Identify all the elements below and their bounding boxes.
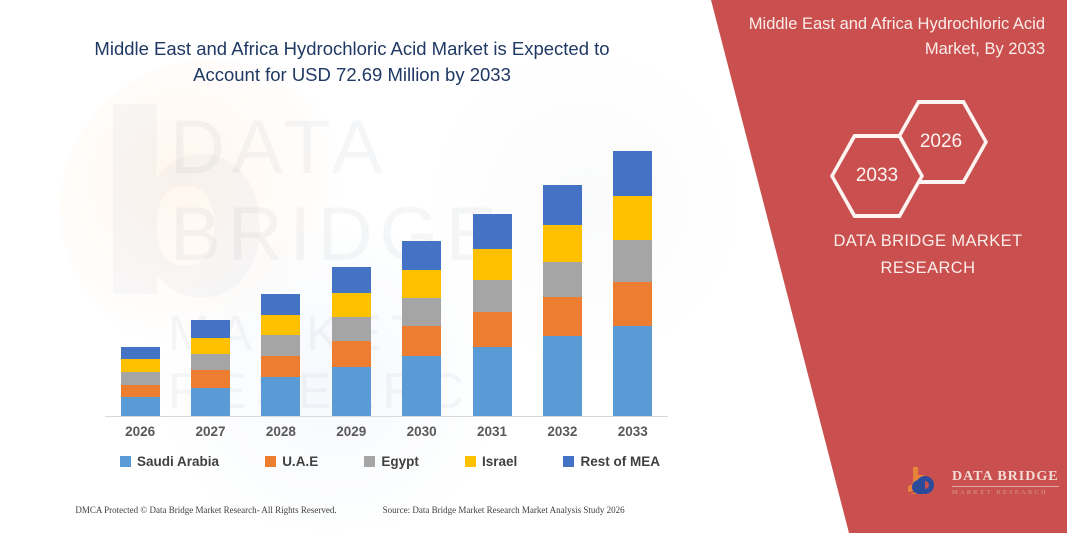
bar-segment-uae [613,282,652,326]
bar-segment-egypt [261,335,300,355]
bar-segment-saudiarabia [191,388,230,416]
bar-segment-israel [473,249,512,280]
bar-segment-egypt [121,372,160,385]
bar-segment-restofmea [473,214,512,248]
bar-segment-uae [191,370,230,387]
bar-column-2030 [387,120,457,416]
bar-column-2031 [457,120,527,416]
legend-label: Rest of MEA [580,454,660,469]
bar-segment-uae [402,326,441,357]
x-axis-label-2030: 2030 [387,424,457,439]
bar-segment-restofmea [613,151,652,196]
legend-item-restofmea[interactable]: Rest of MEA [563,454,660,469]
legend-label: Egypt [381,454,419,469]
bar-segment-restofmea [191,320,230,337]
bar-segment-saudiarabia [543,336,582,416]
x-axis-labels: 20262027202820292030203120322033 [105,424,668,439]
bar-segment-uae [543,297,582,337]
legend-item-israel[interactable]: Israel [465,454,517,469]
legend-item-uae[interactable]: U.A.E [265,454,318,469]
bar-stack [191,320,230,416]
legend-swatch-icon [563,456,574,467]
chart-title: Middle East and Africa Hydrochloric Acid… [62,36,642,88]
legend-swatch-icon [465,456,476,467]
bar-column-2026 [105,120,175,416]
panel-brand-name: DATA BRIDGE MARKET RESEARCH [800,228,1056,282]
x-axis-label-2029: 2029 [316,424,386,439]
bar-stack [543,185,582,416]
footer-copyright: DMCA Protected © Data Bridge Market Rese… [75,505,336,515]
bar-stack [402,241,441,416]
bar-segment-israel [613,196,652,240]
bar-segment-saudiarabia [402,356,441,416]
bar-segment-israel [543,225,582,262]
x-axis-label-2032: 2032 [527,424,597,439]
legend-swatch-icon [364,456,375,467]
x-axis-line [105,416,668,417]
bar-segment-israel [261,315,300,335]
x-axis-label-2027: 2027 [175,424,245,439]
bar-segment-egypt [613,240,652,283]
bar-segment-restofmea [332,267,371,293]
data-bridge-logo-icon [905,462,945,502]
bar-segment-uae [121,385,160,398]
legend-label: U.A.E [282,454,318,469]
bar-segment-saudiarabia [121,397,160,416]
stacked-bar-chart [105,120,668,416]
bar-stack [121,347,160,416]
panel-title: Middle East and Africa Hydrochloric Acid… [745,12,1045,62]
bar-stack [473,214,512,416]
bar-stack [332,267,371,416]
bar-segment-saudiarabia [473,347,512,416]
bar-segment-egypt [543,262,582,297]
legend-label: Saudi Arabia [137,454,219,469]
hexagon-badges: 2026 2033 [820,100,1000,210]
bar-segment-israel [121,359,160,372]
bar-segment-saudiarabia [261,377,300,416]
hexagon-badge-2033: 2033 [830,134,924,218]
bar-stack [261,294,300,416]
bar-segment-saudiarabia [613,326,652,416]
data-bridge-logo-text: DATA BRIDGE MARKET RESEARCH [952,469,1059,496]
bar-segment-egypt [473,280,512,311]
bar-column-2028 [246,120,316,416]
x-axis-label-2033: 2033 [598,424,668,439]
legend-item-saudiarabia[interactable]: Saudi Arabia [120,454,219,469]
bar-column-2032 [527,120,597,416]
logo-subtitle: MARKET RESEARCH [952,489,1059,496]
bar-column-2027 [175,120,245,416]
bars-row [105,120,668,416]
data-bridge-logo: DATA BRIDGE MARKET RESEARCH [905,462,1059,502]
bar-segment-uae [473,312,512,347]
x-axis-label-2028: 2028 [246,424,316,439]
bar-segment-israel [402,270,441,298]
bar-column-2029 [316,120,386,416]
hexagon-badge-2026-label: 2026 [920,131,962,153]
legend-swatch-icon [265,456,276,467]
chart-legend: Saudi ArabiaU.A.EEgyptIsraelRest of MEA [120,454,660,469]
x-axis-label-2026: 2026 [105,424,175,439]
infographic-slide: b DATA BRIDGE MARKET RESEARCH Middle Eas… [0,0,1067,533]
bar-segment-saudiarabia [332,367,371,416]
footer-source: Source: Data Bridge Market Research Mark… [383,505,625,515]
legend-item-egypt[interactable]: Egypt [364,454,419,469]
bar-segment-egypt [191,354,230,370]
bar-stack [613,151,652,416]
bar-segment-egypt [332,317,371,341]
bar-segment-restofmea [121,347,160,360]
bar-segment-uae [332,341,371,367]
bar-column-2033 [598,120,668,416]
legend-label: Israel [482,454,517,469]
logo-title: DATA BRIDGE [952,469,1059,487]
footer: DMCA Protected © Data Bridge Market Rese… [0,505,700,515]
legend-swatch-icon [120,456,131,467]
bar-segment-restofmea [543,185,582,225]
bar-segment-restofmea [402,241,441,271]
bar-segment-israel [332,293,371,317]
bar-segment-israel [191,338,230,354]
x-axis-label-2031: 2031 [457,424,527,439]
hexagon-badge-2033-label: 2033 [856,165,898,187]
bar-segment-uae [261,356,300,378]
bar-segment-egypt [402,298,441,326]
bar-segment-restofmea [261,294,300,316]
